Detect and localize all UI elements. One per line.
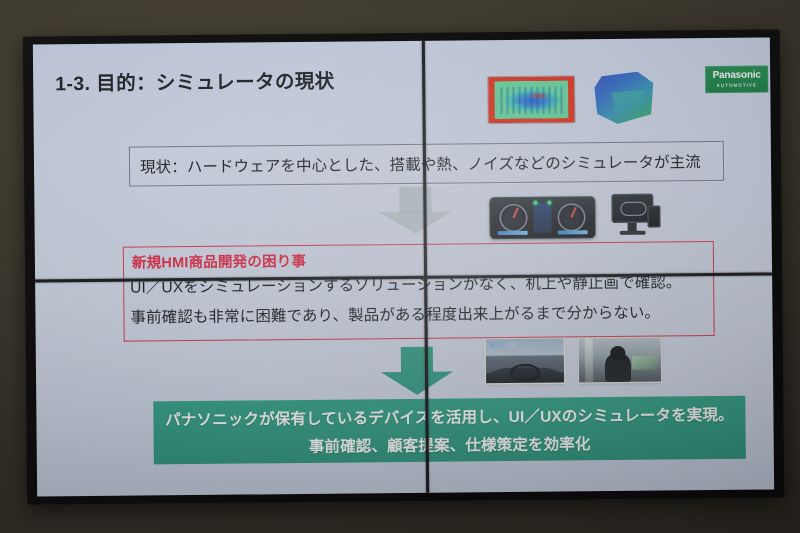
cluster-telltale-icon	[533, 201, 537, 205]
problem-body-line: 事前確認も非常に困難であり、製品がある程度出来上がるまで分からない。	[130, 301, 660, 328]
simulator-pillar	[585, 338, 593, 382]
simulator-screen-glow	[632, 356, 658, 370]
problem-statement-box: 新規HMI商品開発の困り事 UI／UXをシミュレーションするソリューションがなく…	[123, 241, 715, 342]
cluster-telltale-icon	[547, 201, 551, 205]
room-background: 1-3. 目的：シミュレータの現状 Panasonic AUTOMOTIVE 現…	[0, 0, 800, 533]
conclusion-line: 事前確認、顧客提案、仕様策定を効率化	[309, 432, 591, 457]
conclusion-line: パナソニックが保有しているデバイスを活用し、UI／UXのシミュレータを実現。	[165, 402, 734, 429]
driving-simulator-operator-photo	[579, 338, 661, 383]
conclusion-banner: パナソニックが保有しているデバイスを活用し、UI／UXのシミュレータを実現。 事…	[153, 396, 746, 465]
presentation-slide: 1-3. 目的：シミュレータの現状 Panasonic AUTOMOTIVE 現…	[33, 37, 774, 496]
display-screen: 1-3. 目的：シミュレータの現状 Panasonic AUTOMOTIVE 現…	[33, 37, 774, 496]
cluster-gauge-left-icon	[499, 204, 527, 232]
thermal-simulation-pcb-image	[488, 76, 574, 123]
panasonic-logo: Panasonic AUTOMOTIVE	[705, 65, 768, 93]
cluster-light-strip	[558, 230, 588, 234]
tablet-device	[647, 206, 660, 228]
cluster-center-display	[533, 203, 551, 233]
instrument-cluster-photo	[489, 196, 595, 239]
arrow-head	[379, 212, 451, 235]
monitor-base	[620, 231, 646, 235]
problem-body-line: UI／UXをシミュレーションするソリューションがなく、机上や静止画で確認。	[130, 270, 681, 297]
video-wall-bezel: 1-3. 目的：シミュレータの現状 Panasonic AUTOMOTIVE 現…	[23, 29, 784, 504]
status-statement-box: 現状：ハードウェアを中心とした、搭載や熱、ノイズなどのシミュレータが主流	[129, 141, 724, 187]
simulator-operator-figure	[605, 353, 631, 382]
display-monitor-tablet-photo	[611, 194, 659, 238]
cluster-light-strip	[498, 231, 528, 235]
page-title: 1-3. 目的：シミュレータの現状	[55, 65, 335, 97]
down-arrow-gray-icon	[379, 187, 451, 235]
3d-housing-render-image	[593, 72, 653, 125]
down-arrow-green-icon	[381, 347, 453, 396]
cluster-gauge-right-icon	[557, 203, 585, 231]
simulator-hud-overlay	[490, 342, 516, 347]
arrow-shaft	[399, 187, 431, 213]
arrow-shaft	[401, 347, 433, 373]
status-statement-text: 現状：ハードウェアを中心とした、搭載や熱、ノイズなどのシミュレータが主流	[130, 150, 701, 177]
arrow-head	[381, 372, 453, 396]
problem-heading: 新規HMI商品開発の困り事	[132, 250, 306, 273]
logo-sub-text: AUTOMOTIVE	[716, 83, 757, 88]
driving-simulator-pov-photo	[486, 338, 564, 383]
logo-brand-text: Panasonic	[713, 70, 761, 80]
